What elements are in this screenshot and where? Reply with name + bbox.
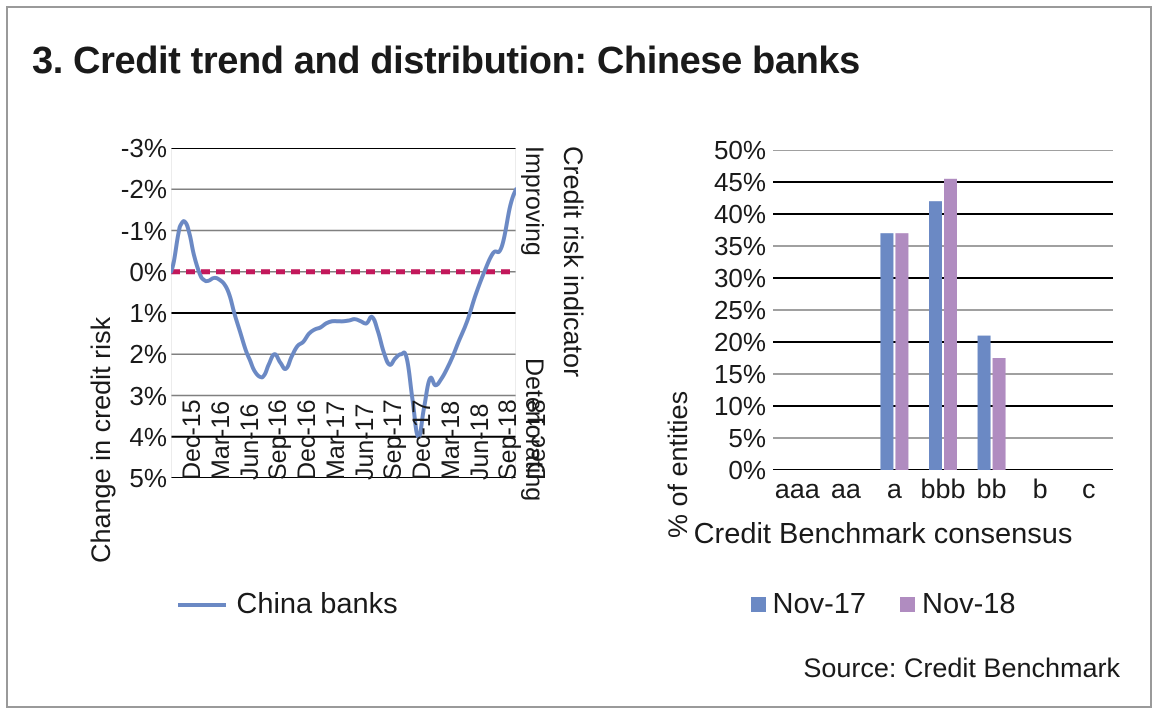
bar-y-tick-label: 45% <box>678 169 766 195</box>
source-note: Source: Credit Benchmark <box>803 653 1120 684</box>
chart-frame: 3. Credit trend and distribution: Chines… <box>6 6 1152 708</box>
line-y-tick-label: 3% <box>101 383 167 409</box>
legend-line-label: China banks <box>236 588 397 621</box>
bar <box>944 179 957 470</box>
bar <box>993 358 1006 470</box>
line-y-tick-label: 1% <box>101 300 167 326</box>
bar-y-tick-label: 25% <box>678 297 766 323</box>
bar-legend-item: Nov-18 <box>900 588 1016 621</box>
improving-text: Improving <box>519 146 548 256</box>
bar-chart-plot-area <box>773 150 1113 470</box>
bar-x-tick-label: b <box>1016 476 1065 503</box>
bar-chart-panel: % of entities 0%5%10%15%20%25%30%35%40%4… <box>618 108 1160 668</box>
bar-y-tick-label: 10% <box>678 393 766 419</box>
bar-y-tick-label: 15% <box>678 361 766 387</box>
indicator-text: Credit risk indicator <box>557 146 588 377</box>
bar-chart-bars <box>880 179 1005 470</box>
line-chart-x-ticks: Dec-15Mar-16Jun-16Sep-16Dec-16Mar-17Jun-… <box>171 480 516 590</box>
bar-x-tick-label: aaa <box>773 476 822 503</box>
line-y-tick-label: 2% <box>101 341 167 367</box>
bar-legend-item: Nov-17 <box>751 588 867 621</box>
bar-chart-y-ticks: 0%5%10%15%20%25%30%35%40%45%50% <box>678 150 766 470</box>
bar-y-tick-label: 5% <box>678 425 766 451</box>
bar <box>880 233 893 470</box>
bar-chart-gridlines <box>773 150 1113 470</box>
bar-x-tick-label: a <box>870 476 919 503</box>
bar-x-tick-label: bbb <box>919 476 968 503</box>
bar-chart-legend: Nov-17Nov-18 <box>618 588 1148 621</box>
bar-legend-swatch-icon <box>900 597 915 612</box>
bar-y-tick-label: 30% <box>678 265 766 291</box>
line-y-tick-label: 5% <box>101 465 167 491</box>
bar-legend-swatch-icon <box>751 597 766 612</box>
bar-y-tick-label: 40% <box>678 201 766 227</box>
bar <box>978 336 991 470</box>
page-title: 3. Credit trend and distribution: Chines… <box>32 40 860 83</box>
line-chart-y-ticks: -3%-2%-1%0%1%2%3%4%5% <box>101 148 167 478</box>
bar-y-tick-label: 50% <box>678 137 766 163</box>
bar-x-tick-label: aa <box>822 476 871 503</box>
bar-y-tick-label: 35% <box>678 233 766 259</box>
bar <box>929 201 942 470</box>
bar-chart-x-ticks: aaaaaabbbbbbc <box>773 476 1113 516</box>
bar-x-tick-label: c <box>1064 476 1113 503</box>
legend-line-swatch-icon <box>178 603 226 607</box>
bar <box>895 233 908 470</box>
line-chart-panel: Change in credit risk -3%-2%-1%0%1%2%3%4… <box>8 108 618 668</box>
line-y-tick-label: 4% <box>101 424 167 450</box>
line-chart-legend: China banks <box>8 588 568 621</box>
deteriorating-text: Deteriorating <box>519 358 548 501</box>
line-y-tick-label: -2% <box>101 176 167 202</box>
line-y-tick-label: -3% <box>101 135 167 161</box>
bar-legend-label: Nov-18 <box>922 588 1016 621</box>
line-y-tick-label: -1% <box>101 218 167 244</box>
bar-legend-label: Nov-17 <box>773 588 867 621</box>
line-y-tick-label: 0% <box>101 259 167 285</box>
bar-y-tick-label: 0% <box>678 457 766 483</box>
bar-chart-svg <box>773 150 1113 470</box>
bar-x-tick-label: bb <box>967 476 1016 503</box>
bar-y-tick-label: 20% <box>678 329 766 355</box>
bar-chart-x-axis-title: Credit Benchmark consensus <box>618 518 1148 551</box>
